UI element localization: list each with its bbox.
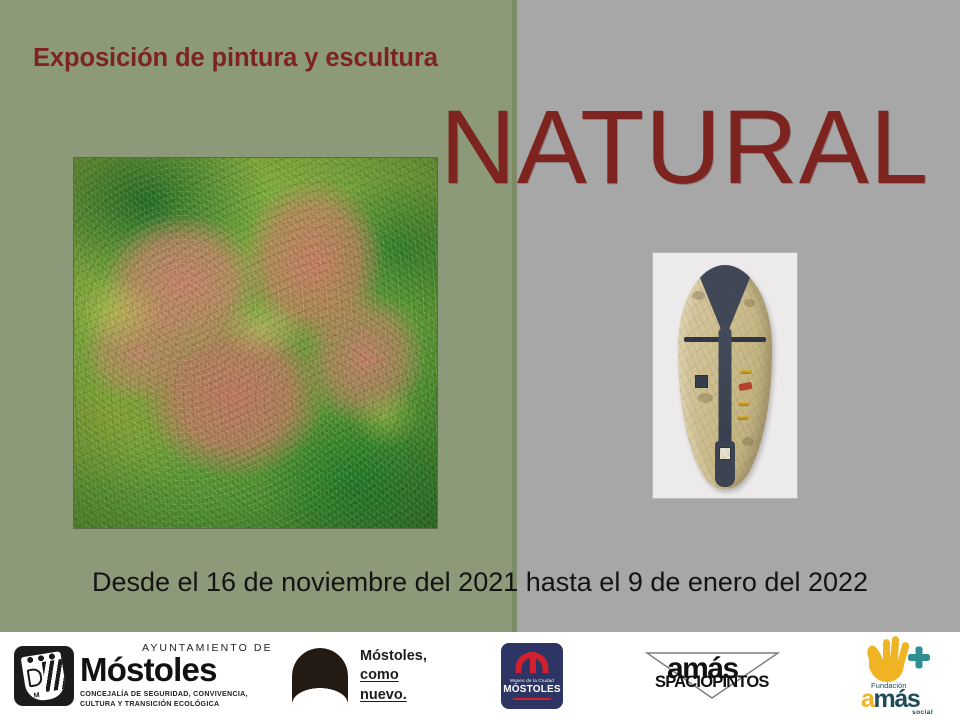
eyebrow-text: Exposición de pintura y escultura [33,44,438,73]
mask-spot [698,393,713,403]
museo-name: MÓSTOLES [501,684,563,695]
mask-spot [742,437,754,446]
espacio-amas-lockup: amás SPACIOPINTOS [645,648,780,704]
mostoles-coat-of-arms-icon: M [14,646,74,706]
hand-icon [859,635,933,685]
painting-vignette-layer [74,158,437,528]
logo-ayuntamiento-text: AYUNTAMIENTO DE Móstoles CONCEJALÍA DE S… [80,643,273,709]
fundacion-amas-word: amás [861,687,919,712]
fundacion-word-a: a [861,685,874,713]
fundacion-social-label: social [912,709,933,716]
mask-face [678,265,772,489]
mask-bead [737,415,749,420]
mask-eye-plate [695,375,708,388]
arch-icon [292,648,348,704]
logo-fundacion-amas-social: Fundación amás social [855,632,947,720]
museo-supertitle: Museo de la Ciudad [501,678,563,683]
painting-artwork [73,157,438,529]
museo-rule [513,698,551,700]
como-nuevo-text: Móstoles, como nuevo. [360,647,427,706]
espacio-amas-sub: SPACIOPINTOS [655,674,769,691]
exhibition-dates: Desde el 16 de noviembre del 2021 hasta … [0,567,960,598]
mask-red-mark [738,382,752,392]
ayuntamiento-department-line2: CULTURA Y TRANSICIÓN ECOLÓGICA [80,699,273,709]
como-nuevo-line1: Móstoles, [360,647,427,667]
shield-mark-m: M [33,692,40,700]
como-nuevo-line3: nuevo. [360,686,427,706]
logo-mostoles-como-nuevo: Móstoles, como nuevo. [292,632,427,720]
mask-mouth-inlay [719,447,731,460]
mask-sculpture-photo [652,252,798,499]
mask-bead [740,369,752,374]
mask-bead [738,401,750,406]
ayuntamiento-name: Móstoles [80,654,273,685]
poster: Exposición de pintura y escultura NATURA… [0,0,960,720]
como-nuevo-line2: como [360,666,427,686]
page-title: NATURAL [440,93,929,203]
shield-icon: M [21,651,68,703]
shield-stripes [42,659,66,692]
logo-ayuntamiento-mostoles: M AYUNTAMIENTO DE Móstoles CONCEJALÍA DE… [14,632,273,720]
footer-logo-strip: M AYUNTAMIENTO DE Móstoles CONCEJALÍA DE… [0,632,960,720]
museo-m-stem [530,652,536,673]
ayuntamiento-department-line1: CONCEJALÍA DE SEGURIDAD, CONVIVENCIA, [80,689,273,699]
logo-espacio-amas: amás SPACIOPINTOS [645,632,780,720]
shield-letter-d [27,667,44,687]
fundacion-amas-lockup: Fundación amás social [855,635,947,717]
logo-museo-de-la-ciudad: Museo de la Ciudad MÓSTOLES [501,632,563,720]
museo-badge: Museo de la Ciudad MÓSTOLES [501,643,563,709]
